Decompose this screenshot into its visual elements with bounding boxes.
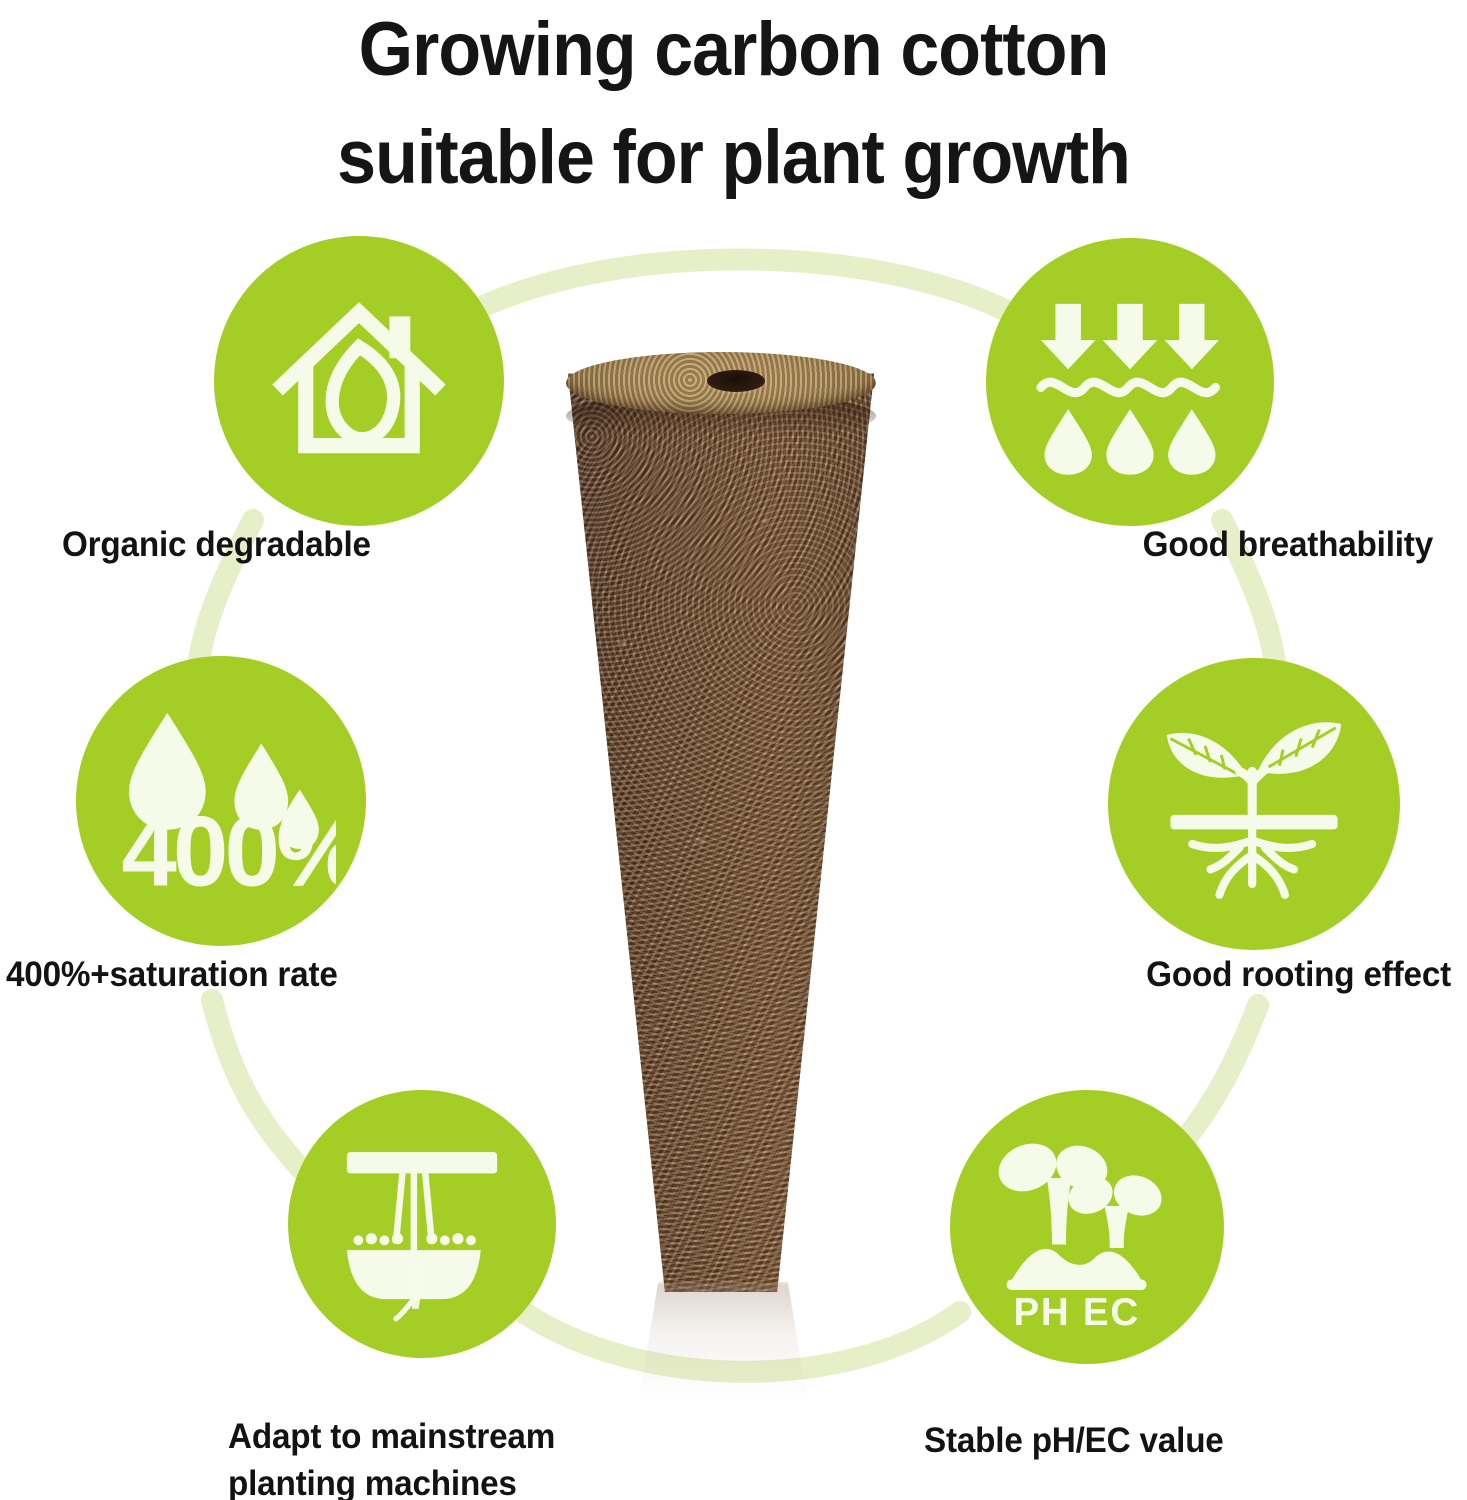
- seedling-roots-icon: [1145, 695, 1363, 913]
- two-sprouts-ph-ec-icon: PH EC: [982, 1122, 1192, 1332]
- feature-badge-good-rooting-effect[interactable]: [1108, 658, 1400, 950]
- feature-label-stable-ph-ec: Stable pH/EC value: [924, 1418, 1333, 1465]
- growing-plug-body: [551, 352, 891, 1292]
- feature-badge-saturation-rate[interactable]: 400%: [76, 656, 366, 946]
- arrows-waves-droplets-icon: [1030, 282, 1230, 482]
- connector-arc-left-lower: [212, 1000, 300, 1168]
- feature-label-good-breathability: Good breathability: [996, 522, 1433, 569]
- title-line-2: suitable for plant growth: [59, 104, 1409, 212]
- feature-label-organic-degradable: Organic degradable: [62, 522, 461, 569]
- feature-label-good-rooting-effect: Good rooting effect: [1033, 952, 1451, 999]
- house-leaf-icon: [264, 286, 454, 476]
- growing-plug-reflection: [633, 1282, 813, 1402]
- connector-arc-top: [440, 260, 1040, 331]
- feature-badge-good-breathability[interactable]: [986, 238, 1274, 526]
- planting-machine-icon: [324, 1126, 520, 1322]
- ph-ec-text: PH EC: [1014, 1291, 1140, 1332]
- feature-badge-organic-degradable[interactable]: [214, 236, 504, 526]
- product-image: [551, 352, 891, 1312]
- water-droplets-400-percent-icon: 400%: [106, 686, 336, 916]
- feature-badge-planting-machines[interactable]: [288, 1090, 556, 1358]
- infographic-poster: Growing carbon cotton suitable for plant…: [0, 0, 1467, 1500]
- growing-plug-center-hole: [707, 370, 765, 392]
- feature-badge-stable-ph-ec[interactable]: PH EC: [950, 1090, 1224, 1364]
- feature-label-planting-machines: Adapt to mainstream planting machines: [228, 1414, 675, 1500]
- saturation-percent-text: 400%: [121, 796, 336, 907]
- feature-label-saturation-rate: 400%+saturation rate: [6, 952, 453, 999]
- page-title: Growing carbon cotton suitable for plant…: [59, 0, 1409, 212]
- title-line-1: Growing carbon cotton: [59, 0, 1409, 104]
